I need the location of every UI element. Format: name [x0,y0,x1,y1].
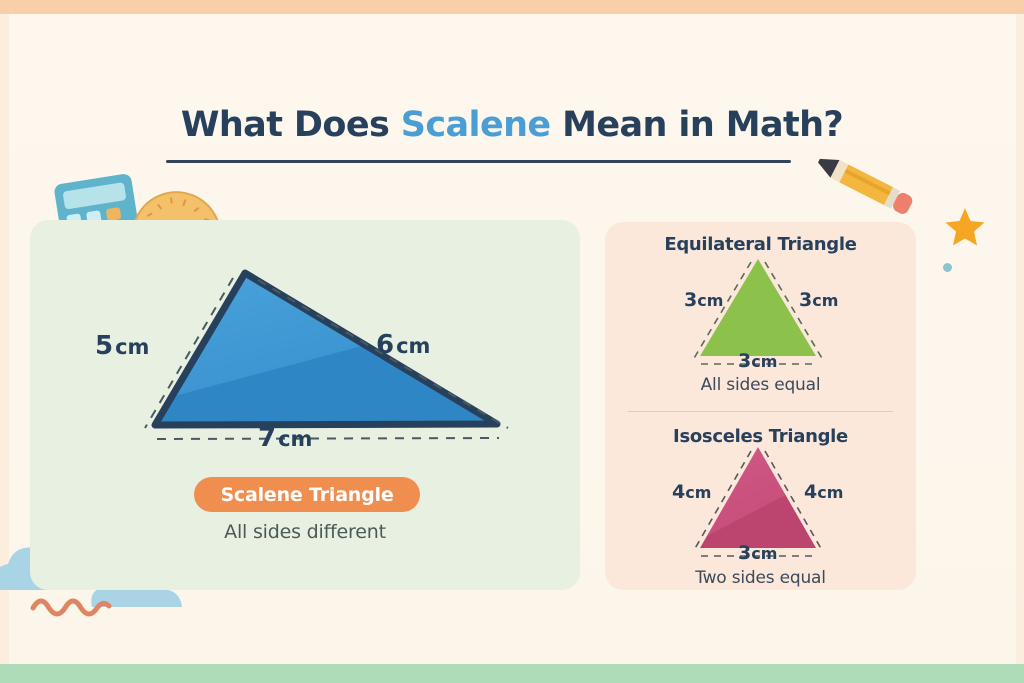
isosceles-side-left-unit: cm [685,483,711,502]
equilateral-side-left-value: 3 [684,289,697,311]
title-underline [166,160,791,163]
pencil-icon [808,160,918,222]
bottom-accent-band [0,664,1024,683]
scalene-badge-label: Scalene Triangle [220,484,393,506]
equilateral-side-label-left: 3cm [684,291,723,310]
scalene-side-label-left: 5cm [95,333,149,359]
title-part-1: What Does [181,105,401,145]
isosceles-side-label-base: 3cm [738,544,777,563]
isosceles-side-base-unit: cm [751,544,777,563]
isosceles-side-base-value: 3 [738,542,751,564]
equilateral-side-right-unit: cm [812,291,838,310]
equilateral-side-left-unit: cm [697,291,723,310]
infographic-page: What Does Scalene Mean in Math? [0,0,1024,683]
title-highlight: Scalene [401,105,551,145]
scalene-side-left-unit: cm [115,335,149,359]
isosceles-side-right-unit: cm [817,483,843,502]
scalene-side-right-unit: cm [396,334,430,358]
scalene-side-left-value: 5 [95,331,113,361]
equilateral-side-label-base: 3cm [738,352,777,371]
isosceles-side-label-right: 4cm [804,483,843,502]
status-badge: Scalene Triangle [194,477,420,512]
equilateral-side-base-value: 3 [738,350,751,372]
isosceles-caption: Two sides equal [605,568,916,588]
scalene-side-bottom-value: 7 [258,423,276,453]
scalene-side-label-bottom: 7cm [258,425,312,451]
page-title: What Does Scalene Mean in Math? [0,108,1024,143]
isosceles-side-left-value: 4 [672,481,685,503]
title-part-2: Mean in Math? [551,105,844,145]
scalene-side-right-value: 6 [376,330,394,360]
panel-divider [628,411,893,412]
scalene-side-bottom-unit: cm [278,427,312,451]
equilateral-side-base-unit: cm [751,352,777,371]
equilateral-side-label-right: 3cm [799,291,838,310]
star-icon [944,207,986,247]
squiggle-icon [30,596,112,618]
scalene-caption: All sides different [0,521,610,543]
dot-icon [943,263,952,272]
equilateral-side-right-value: 3 [799,289,812,311]
scalene-side-label-right: 6cm [376,332,430,358]
top-accent-band [0,0,1024,14]
equilateral-caption: All sides equal [605,375,916,395]
isosceles-triangle-figure [605,414,916,594]
isosceles-side-right-value: 4 [804,481,817,503]
title-block: What Does Scalene Mean in Math? [0,108,1024,143]
isosceles-side-label-left: 4cm [672,483,711,502]
